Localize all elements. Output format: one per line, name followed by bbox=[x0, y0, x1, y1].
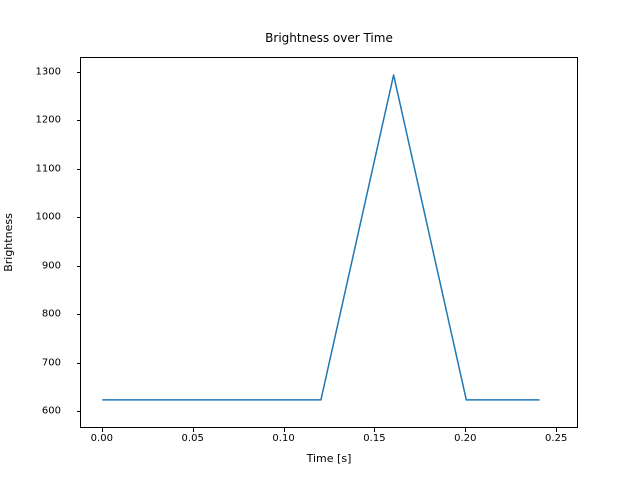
y-tick-mark bbox=[77, 169, 81, 170]
brightness-series-line bbox=[103, 75, 539, 400]
y-tick-label: 700 bbox=[42, 357, 61, 368]
x-tick-mark bbox=[465, 428, 466, 432]
y-tick-mark bbox=[77, 411, 81, 412]
y-tick-label: 1200 bbox=[36, 115, 61, 126]
y-tick-label: 900 bbox=[42, 260, 61, 271]
y-tick-label: 1000 bbox=[36, 212, 61, 223]
plot-area bbox=[80, 57, 578, 428]
x-tick-mark bbox=[284, 428, 285, 432]
x-tick-label: 0.00 bbox=[91, 433, 113, 444]
y-tick-label: 800 bbox=[42, 309, 61, 320]
x-tick-mark bbox=[374, 428, 375, 432]
chart-title: Brightness over Time bbox=[80, 30, 578, 46]
y-tick-label: 1100 bbox=[36, 163, 61, 174]
x-tick-label: 0.05 bbox=[182, 433, 204, 444]
y-tick-mark bbox=[77, 120, 81, 121]
x-tick-mark bbox=[193, 428, 194, 432]
data-line-svg bbox=[81, 58, 579, 429]
y-tick-mark bbox=[77, 72, 81, 73]
x-tick-mark bbox=[102, 428, 103, 432]
y-tick-mark bbox=[77, 314, 81, 315]
x-axis-tick-labels: 0.000.050.100.150.200.25 bbox=[80, 433, 578, 449]
y-tick-mark bbox=[77, 363, 81, 364]
y-tick-label: 1300 bbox=[36, 66, 61, 77]
y-tick-mark bbox=[77, 266, 81, 267]
x-tick-mark bbox=[556, 428, 557, 432]
y-tick-mark bbox=[77, 217, 81, 218]
x-tick-label: 0.15 bbox=[363, 433, 385, 444]
x-tick-label: 0.25 bbox=[545, 433, 567, 444]
x-axis-label: Time [s] bbox=[80, 452, 578, 466]
x-tick-label: 0.10 bbox=[272, 433, 294, 444]
x-tick-label: 0.20 bbox=[454, 433, 476, 444]
y-tick-label: 600 bbox=[42, 406, 61, 417]
y-axis-tick-labels: 6007008009001000110012001300 bbox=[0, 57, 70, 428]
chart-figure: Brightness over Time Brightness 60070080… bbox=[0, 0, 640, 480]
